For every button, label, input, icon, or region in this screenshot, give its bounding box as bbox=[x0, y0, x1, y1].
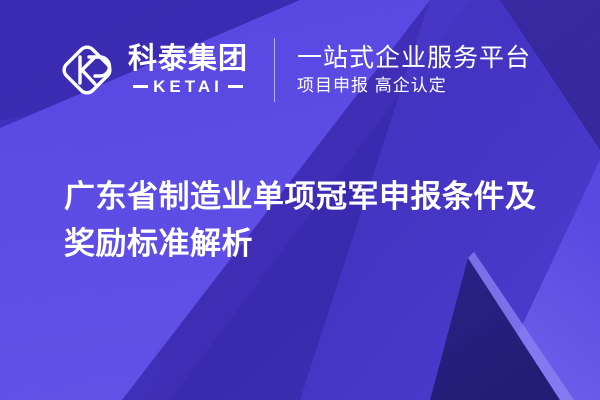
logo-rule-left bbox=[133, 85, 148, 88]
page-title-line-2: 奖励标准解析 bbox=[64, 226, 253, 261]
page-title: 广东省制造业单项冠军申报条件及奖励标准解析 bbox=[64, 173, 564, 267]
tagline-block: 一站式企业服务平台 项目申报 高企认定 bbox=[297, 46, 531, 94]
header-divider bbox=[274, 38, 275, 102]
logo-company-name-en: KETAI bbox=[153, 78, 223, 95]
logo-en-row: KETAI bbox=[133, 78, 243, 95]
page-title-line-1: 广东省制造业单项冠军申报条件及 bbox=[64, 179, 537, 214]
ketai-diamond-kt-monogram-icon bbox=[58, 41, 116, 99]
tagline-main: 一站式企业服务平台 bbox=[297, 46, 531, 71]
tagline-sub: 项目申报 高企认定 bbox=[297, 77, 531, 94]
brand-logo[interactable]: 科泰集团 KETAI bbox=[58, 41, 248, 99]
promo-banner: 科泰集团 KETAI 一站式企业服务平台 项目申报 高企认定 广东省制造业单项冠… bbox=[0, 0, 600, 400]
banner-header: 科泰集团 KETAI 一站式企业服务平台 项目申报 高企认定 bbox=[0, 0, 600, 140]
logo-rule-right bbox=[228, 85, 243, 88]
logo-wordmark: 科泰集团 KETAI bbox=[128, 45, 248, 95]
logo-company-name-cn: 科泰集团 bbox=[128, 45, 248, 74]
